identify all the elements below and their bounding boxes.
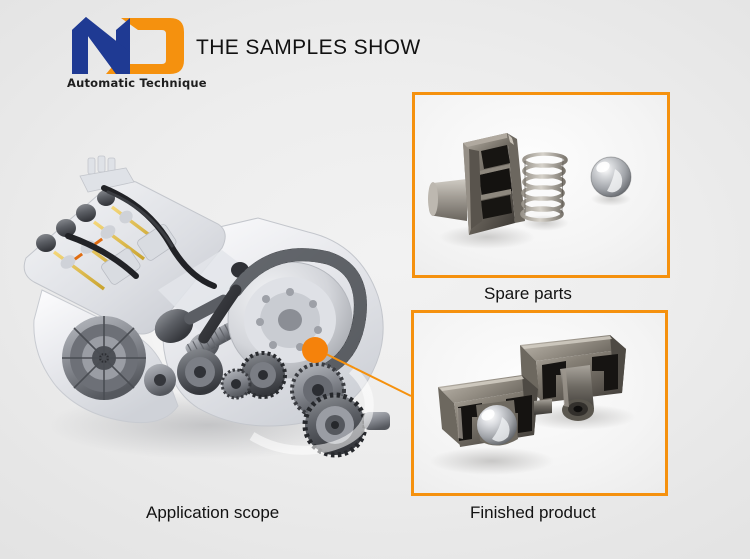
page-title: THE SAMPLES SHOW [196, 36, 421, 60]
application-scope-caption: Application scope [146, 503, 279, 523]
page-header: Automatic Technique THE SAMPLES SHOW [0, 0, 750, 100]
assembled-metal-detent-assembly-image [414, 313, 665, 493]
finished-product-panel[interactable] [411, 310, 668, 496]
md-monogram-logo-icon [66, 16, 190, 76]
company-logo: Automatic Technique [66, 16, 190, 98]
motorcycle-engine-gearbox-cutaway-image [8, 140, 408, 480]
application-scope-figure [8, 140, 408, 480]
gear-assembly-callout-hotspot[interactable] [302, 337, 328, 363]
spare-parts-caption: Spare parts [484, 284, 572, 304]
logo-wordmark: Automatic Technique [67, 76, 191, 90]
spare-parts-panel[interactable] [412, 92, 670, 278]
metal-housing-spring-steel-ball-image [415, 95, 667, 275]
finished-product-caption: Finished product [470, 503, 596, 523]
samples-show-page: Automatic Technique THE SAMPLES SHOW [0, 0, 750, 559]
